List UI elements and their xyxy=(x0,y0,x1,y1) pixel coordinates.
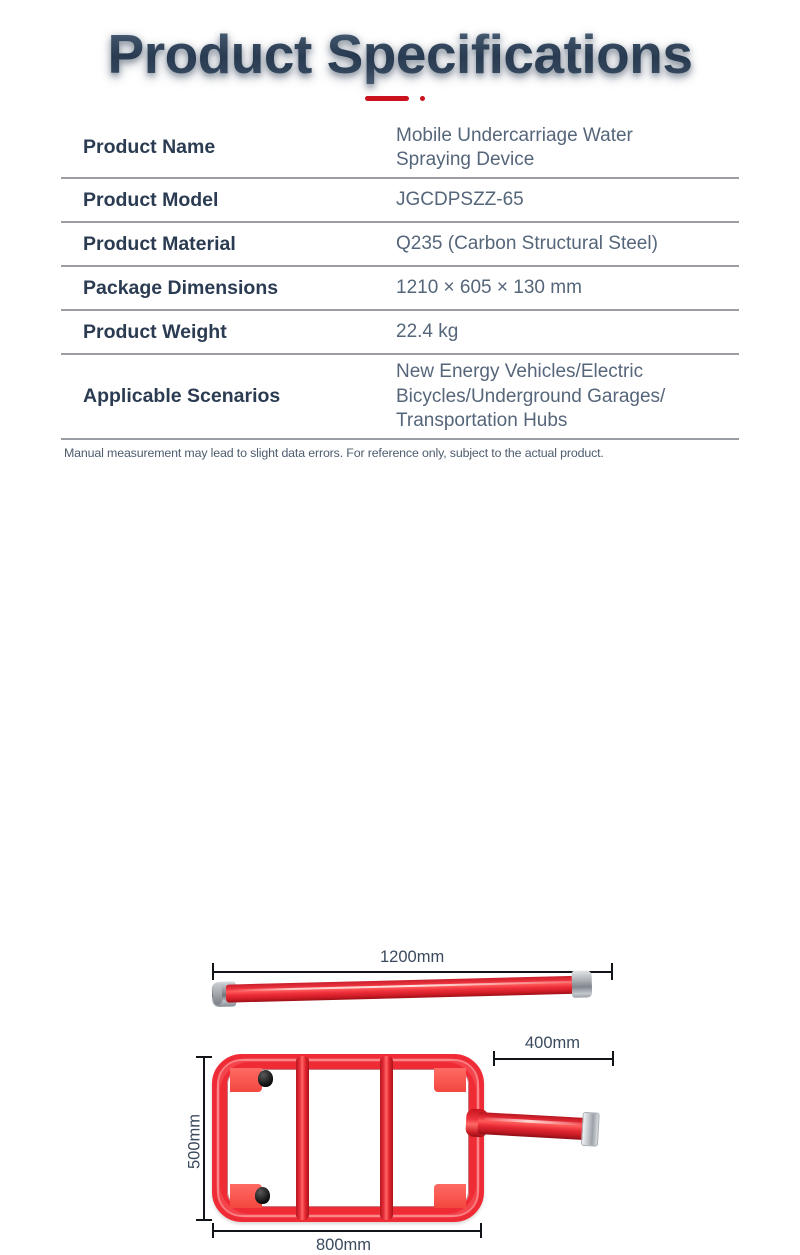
spec-value-product-name: Mobile Undercarriage Water Spraying Devi… xyxy=(396,124,739,173)
table-row: Package Dimensions 1210 × 605 × 130 mm xyxy=(61,267,739,311)
dimension-tick-left xyxy=(212,963,214,980)
spray-nozzle-bottom xyxy=(255,1187,270,1204)
spec-label-product-weight: Product Weight xyxy=(61,320,396,345)
dimension-tick-handle-left xyxy=(493,1051,495,1066)
table-row: Product Name Mobile Undercarriage Water … xyxy=(61,119,739,180)
handle-coupling xyxy=(581,1112,600,1147)
specification-table: Product Name Mobile Undercarriage Water … xyxy=(61,119,739,441)
dimension-tick-right xyxy=(611,963,613,980)
frame-crossbar-1 xyxy=(296,1056,309,1220)
spec-label-applicable-scenarios: Applicable Scenarios xyxy=(61,384,396,409)
dimension-label-handle-length: 400mm xyxy=(525,1034,580,1053)
divider-dot xyxy=(420,96,425,101)
dimension-tick-width-right xyxy=(480,1223,482,1238)
divider-bar xyxy=(365,96,409,101)
spec-label-product-name: Product Name xyxy=(61,135,396,160)
dimension-label-frame-width: 800mm xyxy=(316,1236,371,1255)
table-row: Product Weight 22.4 kg xyxy=(61,311,739,355)
dimension-tick-top xyxy=(196,1056,212,1058)
spec-value-product-weight: 22.4 kg xyxy=(396,320,739,344)
dimension-line-frame-height xyxy=(203,1056,205,1220)
measurement-footnote: Manual measurement may lead to slight da… xyxy=(61,446,739,460)
product-diagram: 1200mm 400mm 500mm 800m xyxy=(0,464,800,794)
dimension-label-frame-height: 500mm xyxy=(186,1107,205,1177)
dimension-line-frame-width xyxy=(212,1230,482,1232)
frame-crossbar-2 xyxy=(380,1056,393,1220)
page-title: Product Specifications xyxy=(108,26,693,84)
spec-label-product-model: Product Model xyxy=(61,188,396,213)
spec-value-package-dimensions: 1210 × 605 × 130 mm xyxy=(396,276,739,300)
title-divider xyxy=(365,95,435,102)
table-row: Product Material Q235 (Carbon Structural… xyxy=(61,223,739,267)
dimension-line-pipe-length xyxy=(212,971,613,973)
corner-bracket-top-right xyxy=(434,1068,466,1092)
spray-pipe-illustration xyxy=(212,975,590,1005)
dimension-label-pipe-length: 1200mm xyxy=(380,948,444,967)
spec-value-product-model: JGCDPSZZ-65 xyxy=(396,188,739,212)
spec-value-applicable-scenarios: New Energy Vehicles/Electric Bicycles/Un… xyxy=(396,360,739,433)
spray-nozzle-top xyxy=(258,1070,273,1087)
spec-label-product-material: Product Material xyxy=(61,232,396,257)
pipe-coupling-right xyxy=(572,971,593,998)
handle-tube-illustration xyxy=(477,1112,606,1141)
dimension-tick-bottom xyxy=(196,1219,212,1221)
spec-label-package-dimensions: Package Dimensions xyxy=(61,276,396,301)
dimension-tick-handle-right xyxy=(612,1051,614,1066)
spec-value-product-material: Q235 (Carbon Structural Steel) xyxy=(396,232,739,256)
dimension-tick-width-left xyxy=(212,1223,214,1238)
corner-bracket-bottom-right xyxy=(434,1184,466,1208)
page-header: Product Specifications xyxy=(0,0,800,102)
dimension-line-handle-length xyxy=(493,1058,614,1060)
table-row: Product Model JGCDPSZZ-65 xyxy=(61,179,739,223)
table-row: Applicable Scenarios New Energy Vehicles… xyxy=(61,355,739,440)
handle-body xyxy=(477,1112,588,1140)
undercarriage-frame-illustration xyxy=(212,1054,484,1222)
